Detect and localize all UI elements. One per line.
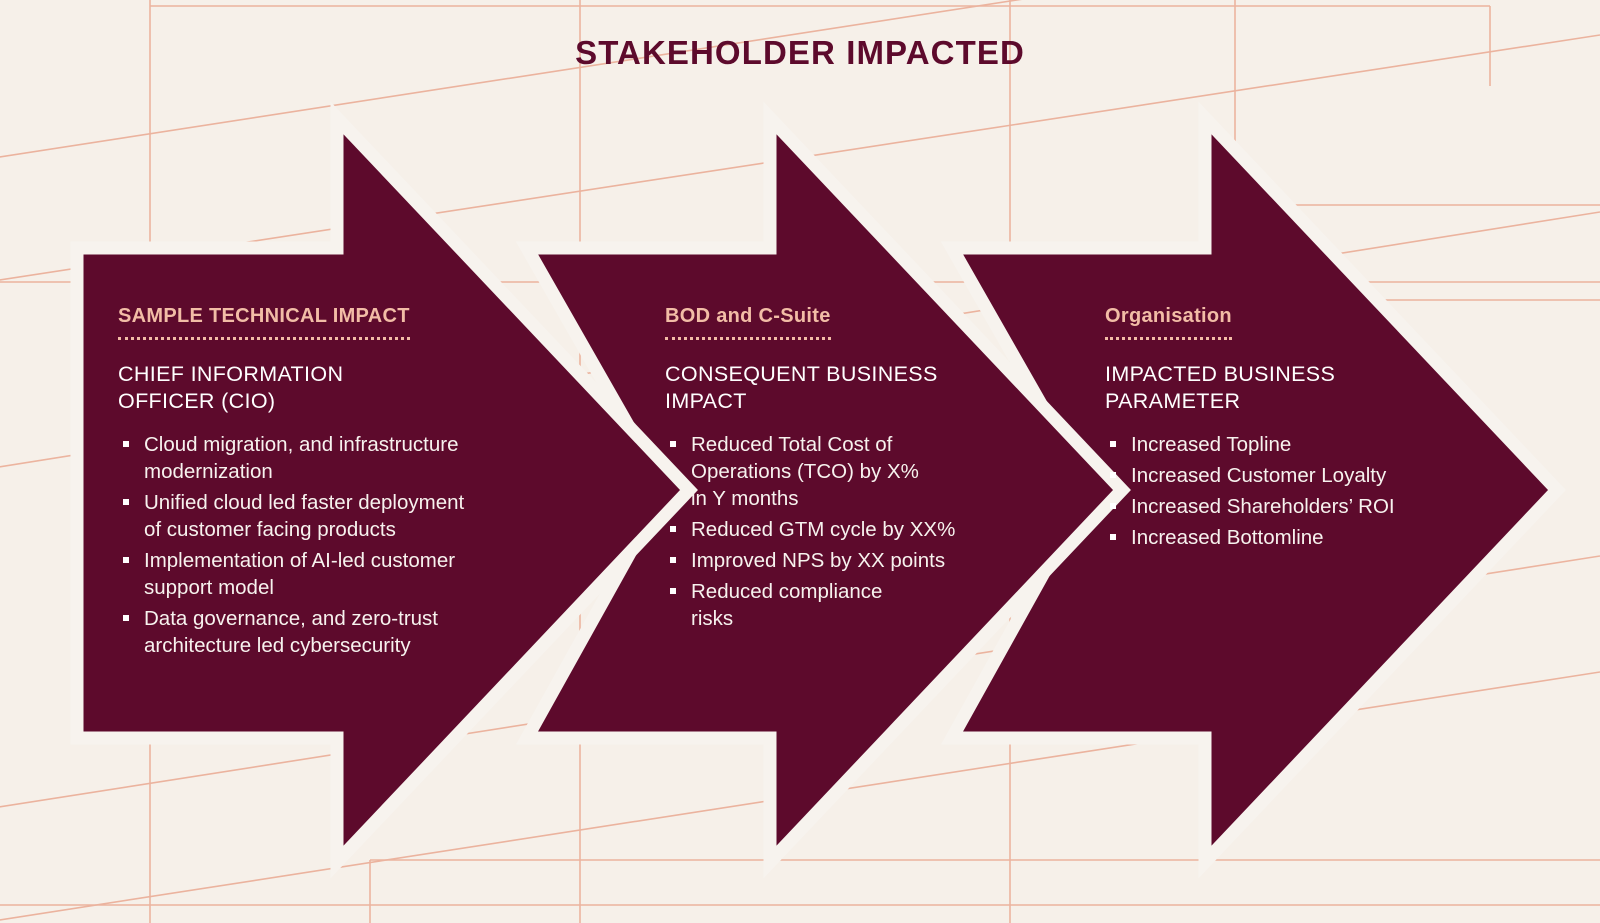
list-item: Data governance, and zero-trust architec… [118,605,548,659]
list-item: Unified cloud led faster deployment of c… [118,489,548,543]
list-item: Improved NPS by XX points [665,547,1015,574]
list-item: Cloud migration, and infrastructure mode… [118,431,548,485]
stakeholder-panel-3: Organisation IMPACTED BUSINESS PARAMETER… [1105,305,1505,555]
stakeholder-panel-2: BOD and C-Suite CONSEQUENT BUSINESS IMPA… [665,305,1015,636]
panel-3-bullet-list: Increased Topline Increased Customer Loy… [1105,431,1505,551]
list-item: Reduced compliance risks [665,578,1015,632]
list-item: Implementation of AI-led customer suppor… [118,547,548,601]
page-title: STAKEHOLDER IMPACTED [0,34,1600,72]
stakeholder-panel-1: SAMPLE TECHNICAL IMPACT CHIEF INFORMATIO… [118,305,548,663]
panel-3-heading: IMPACTED BUSINESS PARAMETER [1105,361,1505,415]
panel-1-eyebrow: SAMPLE TECHNICAL IMPACT [118,305,410,340]
list-item: Increased Bottomline [1105,524,1505,551]
panel-3-eyebrow: Organisation [1105,305,1232,340]
slide-canvas: STAKEHOLDER IMPACTED SAMPLE TECHNICAL IM… [0,0,1600,923]
list-item: Increased Shareholders’ ROI [1105,493,1505,520]
list-item: Reduced Total Cost of Operations (TCO) b… [665,431,1015,512]
panel-2-heading: CONSEQUENT BUSINESS IMPACT [665,361,1015,415]
panel-2-eyebrow: BOD and C-Suite [665,305,831,340]
list-item: Increased Topline [1105,431,1505,458]
list-item: Increased Customer Loyalty [1105,462,1505,489]
list-item: Reduced GTM cycle by XX% [665,516,1015,543]
panel-1-heading: CHIEF INFORMATION OFFICER (CIO) [118,361,548,415]
panel-2-bullet-list: Reduced Total Cost of Operations (TCO) b… [665,431,1015,632]
panel-1-bullet-list: Cloud migration, and infrastructure mode… [118,431,548,659]
